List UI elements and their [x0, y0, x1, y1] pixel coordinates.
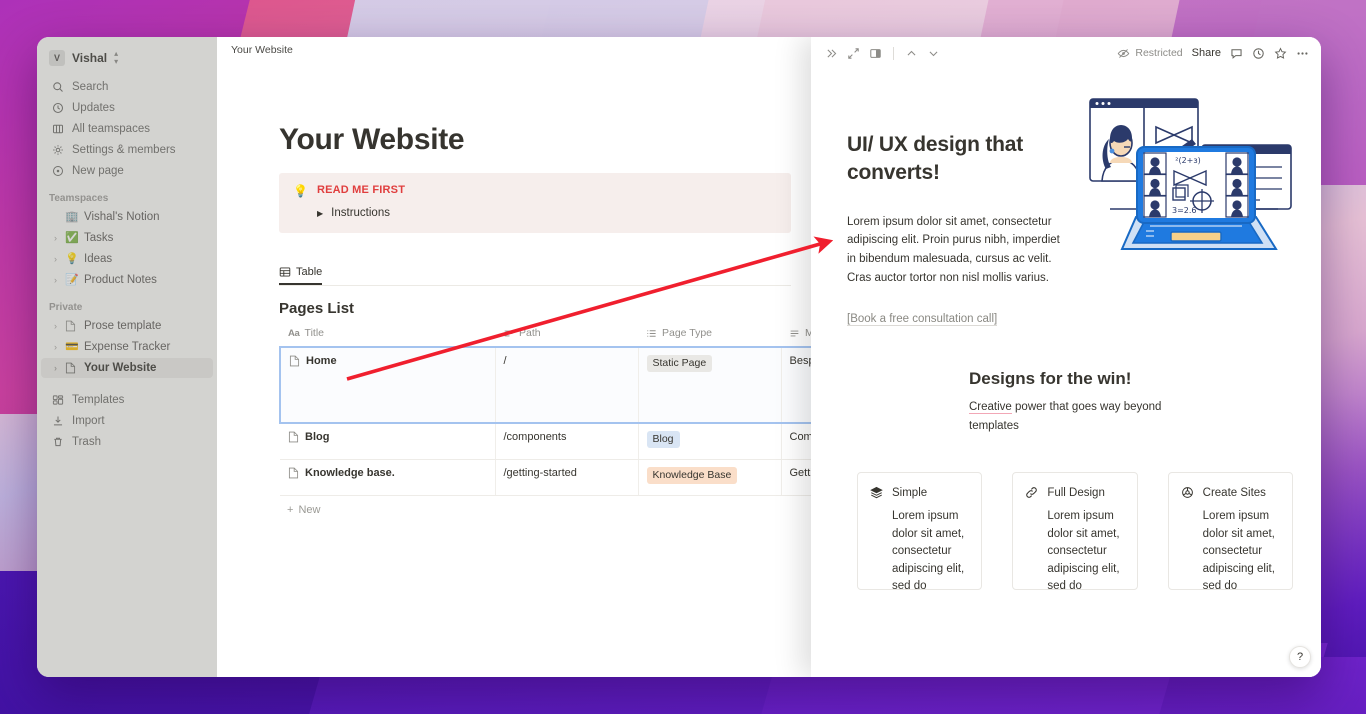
section-heading: Designs for the win!: [969, 369, 1293, 389]
memo-emoji-icon: 📝: [65, 275, 79, 286]
online-collaboration-illustration: ²(2+з) 3=2.6: [1072, 85, 1293, 263]
peek-page-content: UI/ UX design that converts! Lorem ipsum…: [811, 69, 1321, 677]
feature-cards: Simple Lorem ipsum dolor sit amet, conse…: [847, 472, 1293, 590]
column-label: Title: [305, 327, 324, 339]
card-body: Lorem ipsum dolor sit amet, consectetur …: [1203, 508, 1280, 590]
sidebar-item-label: Trash: [72, 436, 101, 448]
link-icon: [1025, 486, 1038, 499]
column-header-page-type[interactable]: Page Type: [638, 323, 781, 347]
star-icon[interactable]: [1274, 47, 1287, 60]
restricted-status[interactable]: Restricted: [1117, 47, 1182, 60]
designs-section: Designs for the win! Creative power that…: [847, 369, 1293, 436]
sidebar-spacer: [37, 379, 217, 389]
sidebar-item-label: Your Website: [84, 362, 156, 374]
cell-path[interactable]: /getting-started: [495, 459, 638, 495]
card-header: Create Sites: [1181, 486, 1280, 499]
book-consultation-link[interactable]: [Book a free consultation call]: [847, 313, 997, 326]
page-icon: [288, 467, 299, 479]
row-title: Home: [306, 355, 337, 367]
column-header-title[interactable]: AaTitle: [280, 323, 495, 347]
triangle-right-icon[interactable]: ▶: [317, 209, 323, 218]
sidebar-item-label: Search: [72, 81, 108, 93]
card-header: Full Design: [1025, 486, 1124, 499]
toolbar-divider: [893, 47, 894, 60]
sidebar-item-ideas[interactable]: › 💡 Ideas: [41, 249, 213, 269]
text-lines-icon: [503, 328, 514, 339]
plus-icon: +: [287, 504, 293, 516]
page-peek-panel: Restricted Share UI: [811, 37, 1321, 677]
sitemap-icon: [1181, 486, 1194, 499]
cell-title[interactable]: Knowledge base.: [280, 459, 495, 495]
card-emoji-icon: 💳: [65, 342, 79, 353]
cell-path[interactable]: /components: [495, 423, 638, 459]
new-row-label: New: [298, 504, 320, 516]
sidebar-item-search[interactable]: Search: [41, 77, 213, 97]
tab-table-view[interactable]: Table: [279, 266, 322, 285]
table-icon: [279, 266, 291, 278]
feature-card-simple[interactable]: Simple Lorem ipsum dolor sit amet, conse…: [857, 472, 982, 590]
page-icon: [65, 362, 79, 374]
sidebar-item-label: Import: [72, 415, 105, 427]
column-label: Page Type: [662, 327, 712, 339]
hero-paragraph: Lorem ipsum dolor sit amet, consectetur …: [847, 213, 1062, 288]
cell-page-type[interactable]: Knowledge Base: [638, 459, 781, 495]
page-icon: [289, 355, 300, 367]
sidebar-item-label: Settings & members: [72, 144, 176, 156]
peek-toolbar: Restricted Share: [811, 37, 1321, 69]
building-icon: [51, 123, 64, 136]
sidebar-item-label: Product Notes: [84, 274, 157, 286]
feature-card-create-sites[interactable]: Create Sites Lorem ipsum dolor sit amet,…: [1168, 472, 1293, 590]
chevron-right-icon[interactable]: ›: [51, 233, 60, 243]
gear-icon: [51, 144, 64, 157]
select-list-icon: [646, 328, 657, 339]
sidebar-section-private: Private: [37, 302, 217, 313]
document-tab-title[interactable]: Your Website: [231, 44, 293, 56]
card-header: Simple: [870, 486, 969, 499]
row-title: Knowledge base.: [305, 467, 395, 479]
sidebar-item-your-website[interactable]: › Your Website: [41, 358, 213, 378]
clock-icon: [51, 102, 64, 115]
row-title: Blog: [305, 431, 329, 443]
hero-section: UI/ UX design that converts! Lorem ipsum…: [847, 69, 1293, 327]
layers-icon: [870, 486, 883, 499]
workspace-name: Vishal: [72, 51, 107, 65]
column-header-path[interactable]: Path: [495, 323, 638, 347]
school-emoji-icon: 🏢: [65, 212, 79, 223]
sidebar-item-label: Prose template: [84, 320, 161, 332]
toggle-label: Instructions: [331, 207, 390, 219]
bulb-emoji-icon: 💡: [65, 254, 79, 265]
double-chevron-right-icon[interactable]: [825, 47, 838, 60]
callout-block: 💡 READ ME FIRST ▶ Instructions: [279, 173, 791, 233]
history-clock-icon[interactable]: [1252, 47, 1265, 60]
comment-icon[interactable]: [1230, 47, 1243, 60]
sidebar-item-vishals-notion[interactable]: 🏢 Vishal's Notion: [41, 207, 213, 227]
card-title: Simple: [892, 487, 927, 499]
sidebar-item-prose-template[interactable]: › Prose template: [41, 316, 213, 336]
search-icon: [51, 81, 64, 94]
callout-title: READ ME FIRST: [317, 184, 405, 196]
sidebar-item-updates[interactable]: Updates: [41, 98, 213, 118]
import-icon: [51, 415, 64, 428]
sidebar-item-label: Expense Tracker: [84, 341, 170, 353]
status-badge: Static Page: [647, 355, 713, 372]
cell-title[interactable]: Home: [280, 347, 495, 423]
cell-path[interactable]: /: [495, 347, 638, 423]
check-emoji-icon: ✅: [65, 233, 79, 244]
callout-header: 💡 READ ME FIRST: [293, 184, 777, 199]
help-button[interactable]: ?: [1289, 646, 1311, 668]
sidebar-item-trash[interactable]: Trash: [41, 432, 213, 452]
sidebar-item-tasks[interactable]: › ✅ Tasks: [41, 228, 213, 248]
status-badge: Knowledge Base: [647, 467, 738, 484]
side-panel-icon[interactable]: [869, 47, 882, 60]
hero-heading: UI/ UX design that converts!: [847, 131, 1062, 187]
sidebar-item-label: Vishal's Notion: [84, 211, 160, 223]
sidebar-item-settings-members[interactable]: Settings & members: [41, 140, 213, 160]
main-document-area: Your Website Your Website 💡 READ ME FIRS…: [217, 37, 1321, 677]
chevron-down-icon[interactable]: [927, 47, 940, 60]
workspace-avatar: V: [49, 50, 65, 66]
share-button[interactable]: Share: [1192, 47, 1221, 59]
card-body: Lorem ipsum dolor sit amet, consectetur …: [1047, 508, 1124, 590]
templates-icon: [51, 394, 64, 407]
notion-app-window: V Vishal ▴▾ Search Updates All teamspace…: [37, 37, 1321, 677]
cell-page-type[interactable]: Static Page: [638, 347, 781, 423]
sidebar-item-label: Templates: [72, 394, 124, 406]
restricted-label: Restricted: [1135, 47, 1182, 59]
aa-icon: Aa: [288, 328, 300, 339]
sidebar-item-expense-tracker[interactable]: › 💳 Expense Tracker: [41, 337, 213, 357]
chevron-up-icon[interactable]: [905, 47, 918, 60]
sidebar-item-label: All teamspaces: [72, 123, 150, 135]
sidebar-item-templates[interactable]: Templates: [41, 390, 213, 410]
sidebar-section-teamspaces: Teamspaces: [37, 193, 217, 204]
chevron-right-icon[interactable]: ›: [51, 342, 60, 352]
page-icon: [65, 320, 79, 332]
trash-icon: [51, 436, 64, 449]
page-icon: [288, 431, 299, 443]
card-title: Create Sites: [1203, 487, 1266, 499]
workspace-switcher[interactable]: V Vishal ▴▾: [41, 45, 213, 71]
sidebar-item-label: New page: [72, 165, 124, 177]
chevron-right-icon[interactable]: ›: [51, 254, 60, 264]
chevron-right-icon[interactable]: ›: [51, 275, 60, 285]
chevron-right-icon[interactable]: ›: [51, 321, 60, 331]
ellipsis-icon[interactable]: [1296, 47, 1309, 60]
sidebar-item-new-page[interactable]: New page: [41, 161, 213, 181]
creative-link[interactable]: Creative: [969, 401, 1012, 414]
bulb-emoji-icon: 💡: [293, 184, 308, 199]
feature-card-full-design[interactable]: Full Design Lorem ipsum dolor sit amet, …: [1012, 472, 1137, 590]
card-body: Lorem ipsum dolor sit amet, consectetur …: [892, 508, 969, 590]
tab-label: Table: [296, 266, 322, 278]
sidebar-item-product-notes[interactable]: › 📝 Product Notes: [41, 270, 213, 290]
cell-title[interactable]: Blog: [280, 423, 495, 459]
svg-text:3=2.6: 3=2.6: [1172, 206, 1197, 215]
sidebar-item-label: Ideas: [84, 253, 112, 265]
toggle-block-instructions[interactable]: ▶ Instructions: [317, 207, 777, 219]
sidebar-item-label: Updates: [72, 102, 115, 114]
status-badge: Blog: [647, 431, 680, 448]
plus-circle-icon: [51, 165, 64, 178]
chevron-right-icon[interactable]: ›: [51, 363, 60, 373]
hero-text-column: UI/ UX design that converts! Lorem ipsum…: [847, 85, 1062, 327]
chevron-updown-icon: ▴▾: [114, 50, 118, 66]
expand-diagonal-icon[interactable]: [847, 47, 860, 60]
sidebar-item-import[interactable]: Import: [41, 411, 213, 431]
column-label: Path: [519, 327, 541, 339]
eye-slash-icon: [1117, 47, 1130, 60]
database-view-tabs: Table: [279, 265, 791, 286]
section-paragraph: Creative power that goes way beyond temp…: [969, 398, 1179, 436]
sidebar: V Vishal ▴▾ Search Updates All teamspace…: [37, 37, 217, 677]
sidebar-item-label: Tasks: [84, 232, 113, 244]
sidebar-item-all-teamspaces[interactable]: All teamspaces: [41, 119, 213, 139]
card-title: Full Design: [1047, 487, 1105, 499]
text-lines-icon: [789, 328, 800, 339]
svg-text:²(2+з): ²(2+з): [1175, 156, 1201, 165]
cell-page-type[interactable]: Blog: [638, 423, 781, 459]
